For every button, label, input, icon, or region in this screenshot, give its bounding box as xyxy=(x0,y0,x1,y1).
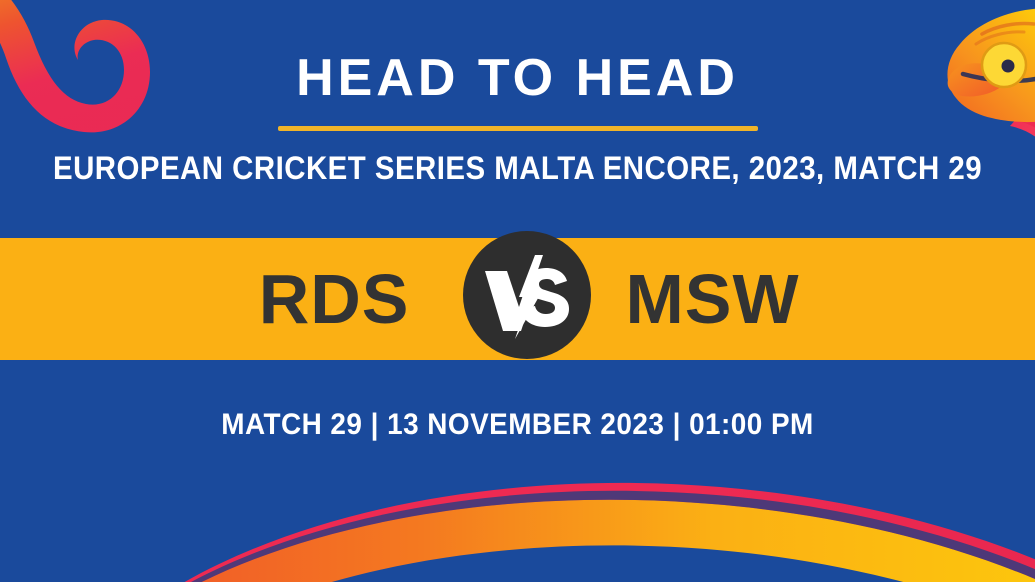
head-to-head-poster: HEAD TO HEAD EUROPEAN CRICKET SERIES MAL… xyxy=(0,0,1035,582)
match-details: MATCH 29 | 13 NOVEMBER 2023 | 01:00 PM xyxy=(0,408,1035,441)
poster-header: HEAD TO HEAD EUROPEAN CRICKET SERIES MAL… xyxy=(0,0,1035,186)
versus-badge xyxy=(463,231,591,359)
team-right-abbr: MSW xyxy=(582,264,882,334)
page-title: HEAD TO HEAD xyxy=(0,0,1035,104)
match-details-text: MATCH 29 | 13 NOVEMBER 2023 | 01:00 PM xyxy=(36,408,999,441)
ribbon-swoosh-icon xyxy=(148,483,1035,582)
team-left-abbr: RDS xyxy=(154,264,454,334)
series-subtitle: EUROPEAN CRICKET SERIES MALTA ENCORE, 20… xyxy=(41,131,993,186)
vs-badge-icon xyxy=(463,231,591,359)
